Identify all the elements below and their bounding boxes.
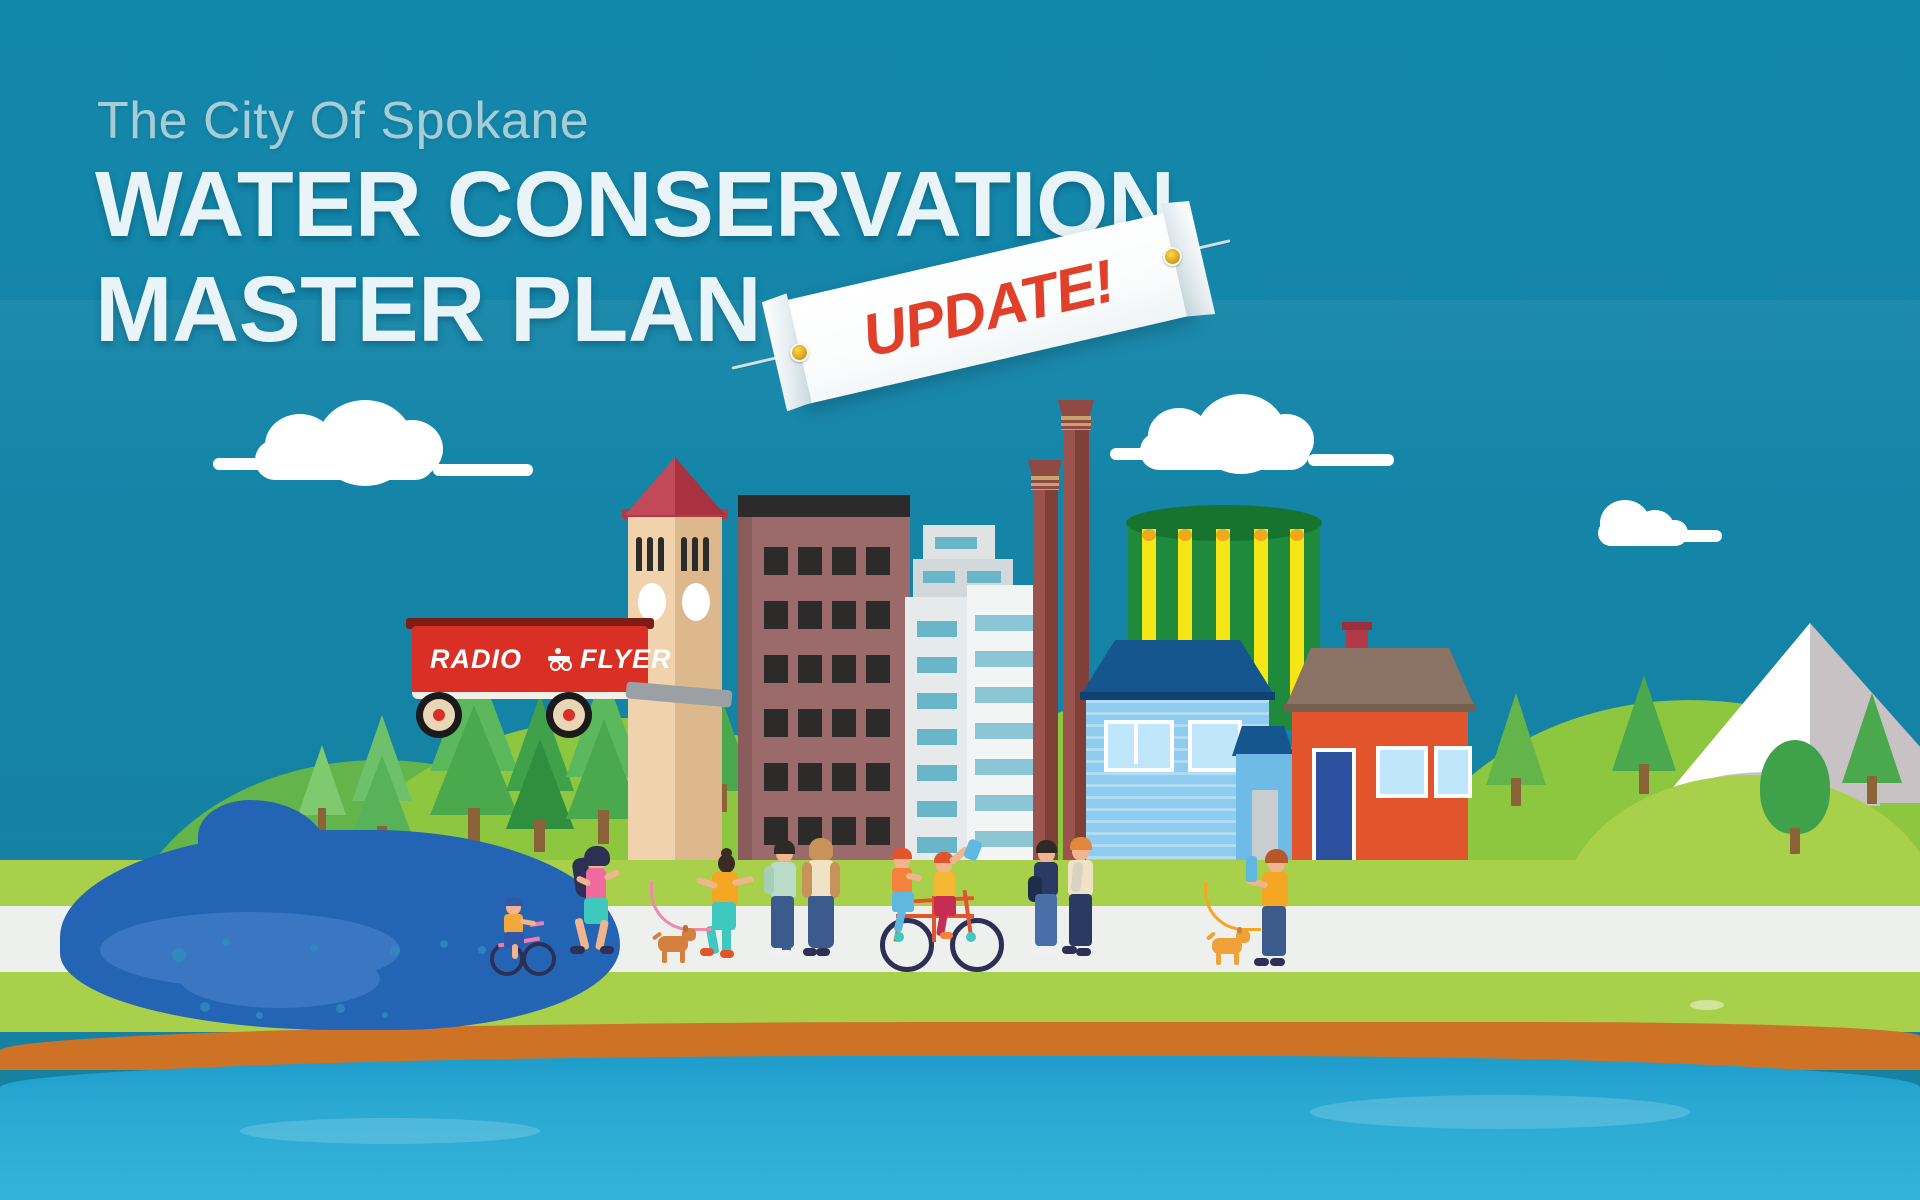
building-window <box>866 763 890 791</box>
water-bubble <box>310 944 318 952</box>
banner-grommet-left <box>790 343 809 362</box>
water-bubble <box>222 938 230 946</box>
building-window <box>917 729 957 745</box>
pedestrian-with-coat <box>800 840 848 968</box>
building-window <box>798 601 822 629</box>
cloud-left <box>255 440 435 480</box>
clock-face <box>682 583 710 621</box>
update-banner: UPDATE! <box>781 211 1195 404</box>
building-window <box>975 795 1033 811</box>
building-window <box>975 687 1033 703</box>
child-on-bicycle <box>490 900 552 978</box>
building-window <box>832 763 856 791</box>
banner-text: UPDATE! <box>781 211 1195 404</box>
water-bubble <box>440 940 448 948</box>
building-window <box>832 547 856 575</box>
house-window <box>1104 720 1174 772</box>
water-bubble <box>172 948 186 962</box>
building-window <box>866 547 890 575</box>
dog <box>1206 930 1252 966</box>
building-window <box>832 655 856 683</box>
building-window <box>798 655 822 683</box>
dog-walker-right <box>1252 850 1308 976</box>
building-window <box>866 601 890 629</box>
building-window <box>866 709 890 737</box>
building-window <box>975 723 1033 739</box>
cloud-far-right <box>1598 520 1688 546</box>
wagon-wheel <box>416 692 462 738</box>
building-window <box>798 547 822 575</box>
water-ripple <box>1310 1095 1690 1129</box>
building-window <box>798 763 822 791</box>
banner-grommet-right <box>1163 247 1182 266</box>
water-bubble <box>382 1012 388 1018</box>
building-window <box>798 709 822 737</box>
building-window <box>975 759 1033 775</box>
building-window <box>917 621 957 637</box>
jogger <box>570 848 622 970</box>
house-door <box>1312 748 1356 878</box>
water-bubble <box>200 1002 210 1012</box>
water-bubble <box>478 946 486 954</box>
building-window <box>917 657 957 673</box>
poster-canvas: RADIO FLYER <box>0 0 1920 1200</box>
building-window <box>917 801 957 817</box>
kicker-text: The City Of Spokane <box>97 95 1174 147</box>
water-ripple <box>1690 1000 1724 1010</box>
building-window <box>764 547 788 575</box>
wagon-wheel <box>546 692 592 738</box>
building-window <box>975 615 1033 631</box>
house-window <box>1376 746 1428 798</box>
wagon-logo-mark <box>548 646 572 666</box>
radio-flyer-wagon: RADIO FLYER <box>400 618 660 728</box>
cloud-right <box>1140 432 1310 470</box>
water-ripple <box>240 1118 540 1144</box>
building-window <box>866 655 890 683</box>
blue-house <box>1080 640 1275 870</box>
building-window <box>975 651 1033 667</box>
building-window <box>917 765 957 781</box>
glass-highrise <box>905 525 1040 870</box>
dog <box>652 928 698 964</box>
wagon-brand-right: FLYER <box>580 644 672 675</box>
pedestrian-light-shirt <box>1060 840 1104 970</box>
orange-house <box>1290 640 1470 870</box>
water-bubble <box>390 946 400 956</box>
building-window <box>832 601 856 629</box>
dog-walker <box>700 848 756 970</box>
tandem-bicycle-riders <box>880 840 1002 972</box>
building-window <box>764 709 788 737</box>
water-bottle <box>1246 856 1257 882</box>
building-window <box>917 693 957 709</box>
house-window <box>1188 720 1242 772</box>
water-bubble <box>336 1004 345 1013</box>
building-window <box>764 601 788 629</box>
clock-face <box>638 583 666 621</box>
building-window <box>764 763 788 791</box>
water-bubble <box>256 1012 263 1019</box>
building-window <box>764 655 788 683</box>
building-window <box>832 709 856 737</box>
wagon-brand-left: RADIO <box>430 644 522 675</box>
update-banner-group: UPDATE! <box>770 225 1230 425</box>
lake-highlight <box>180 950 380 1008</box>
brick-office-building <box>738 495 910 870</box>
house-window <box>1434 746 1472 798</box>
